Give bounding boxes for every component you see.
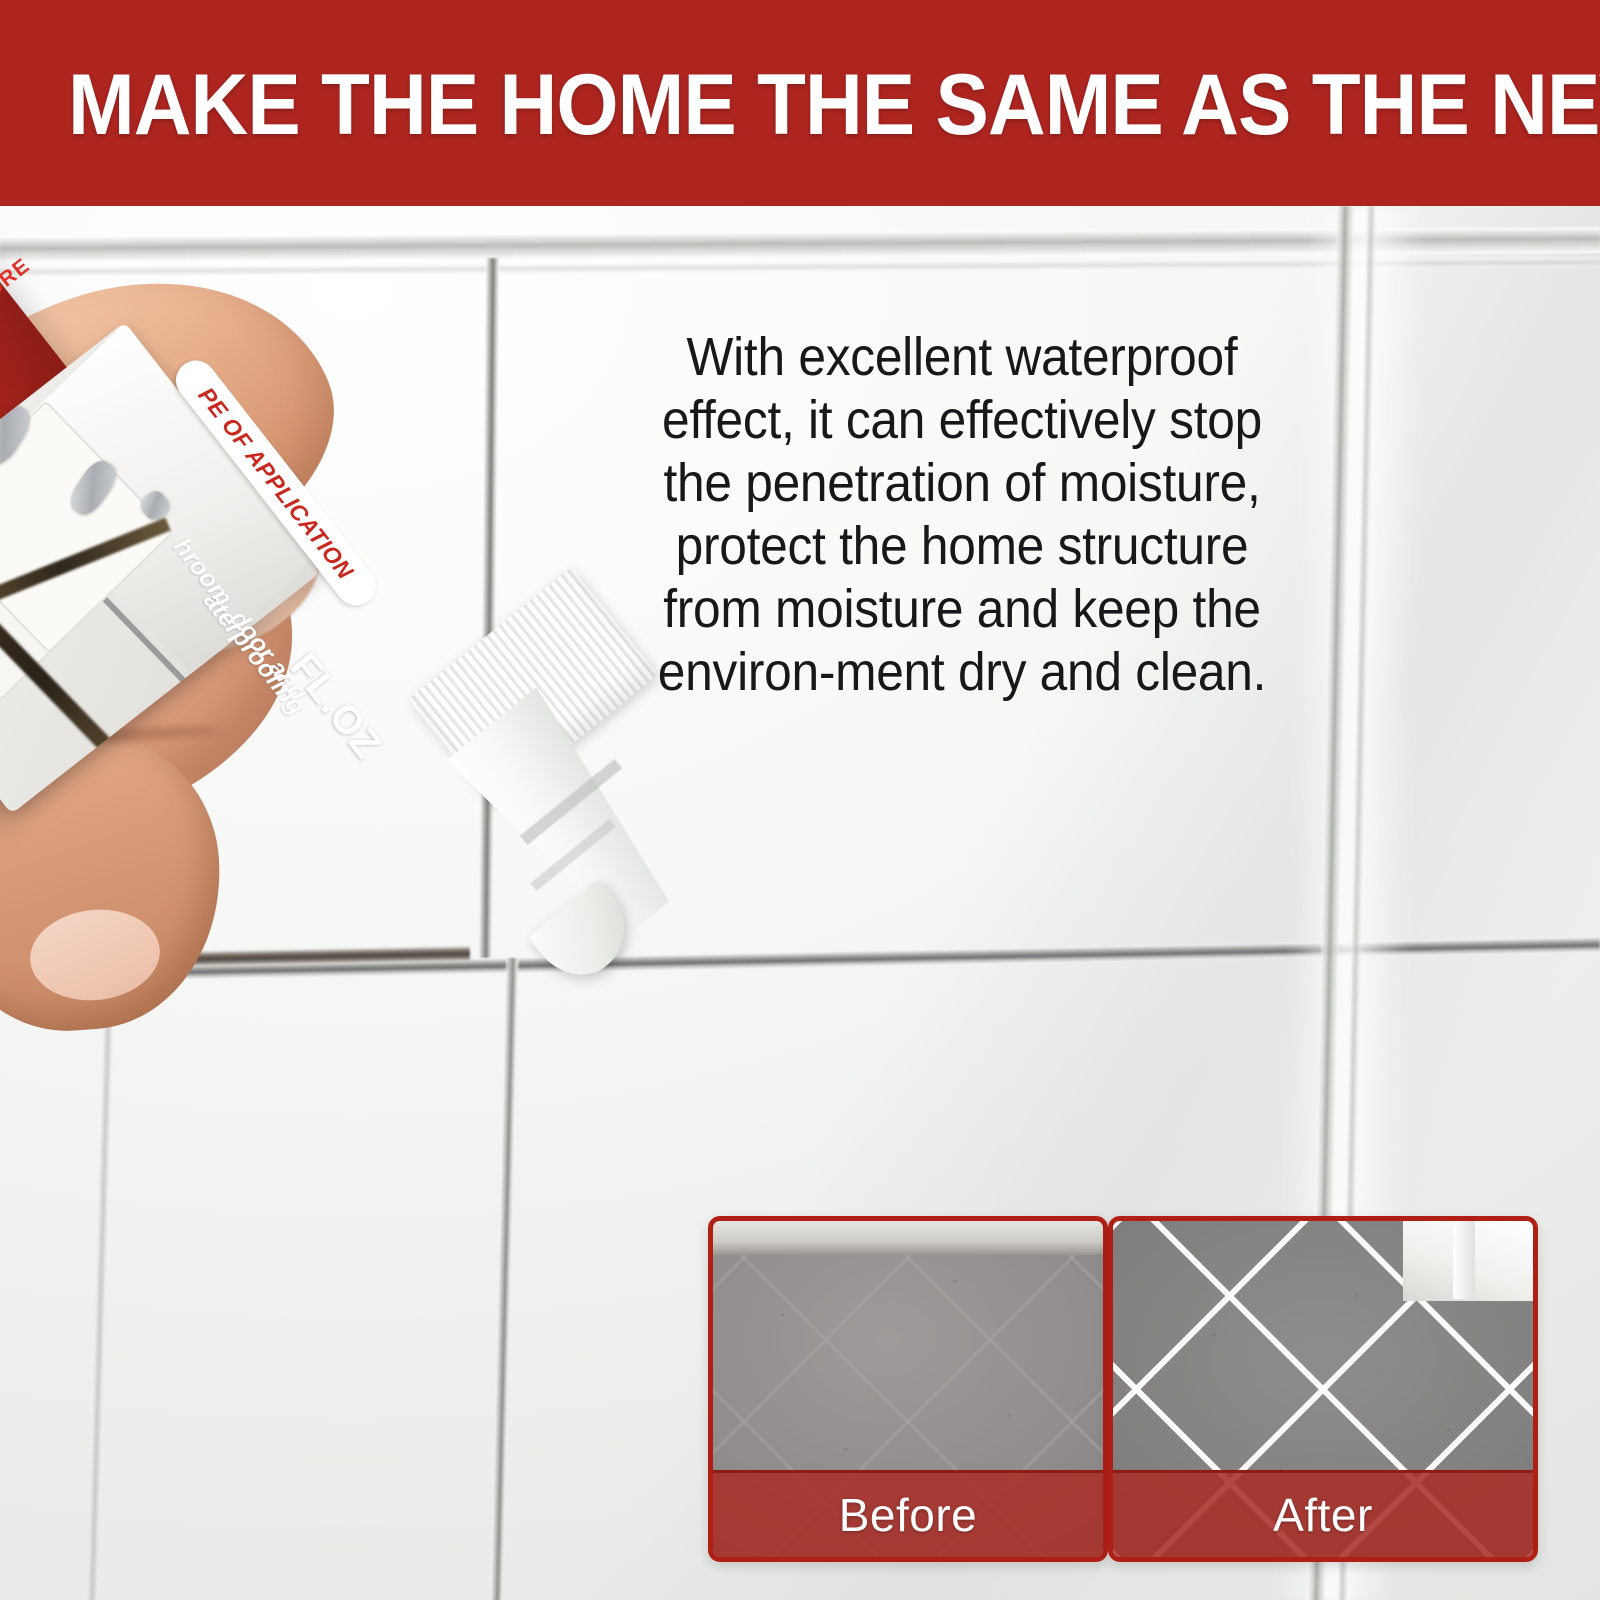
label-inset-photo bbox=[0, 322, 320, 814]
description-text: With excellent waterproof effect, it can… bbox=[640, 326, 1284, 704]
before-caption: Before bbox=[713, 1470, 1103, 1557]
banner-title: MAKE THE HOME THE SAME AS THE NEW ONE bbox=[68, 62, 1444, 148]
after-panel[interactable]: After bbox=[1108, 1216, 1538, 1562]
before-photo-wall-edge bbox=[713, 1221, 1103, 1255]
before-panel[interactable]: Before bbox=[708, 1216, 1108, 1562]
before-after-comparison: Before After bbox=[708, 1216, 1528, 1552]
header-banner: MAKE THE HOME THE SAME AS THE NEW ONE bbox=[0, 0, 1600, 206]
product-poster: BEFORE PE OF APPLICATION hroom, door and… bbox=[0, 0, 1600, 1600]
after-caption: After bbox=[1113, 1470, 1533, 1557]
after-photo-door-frame bbox=[1453, 1221, 1475, 1299]
